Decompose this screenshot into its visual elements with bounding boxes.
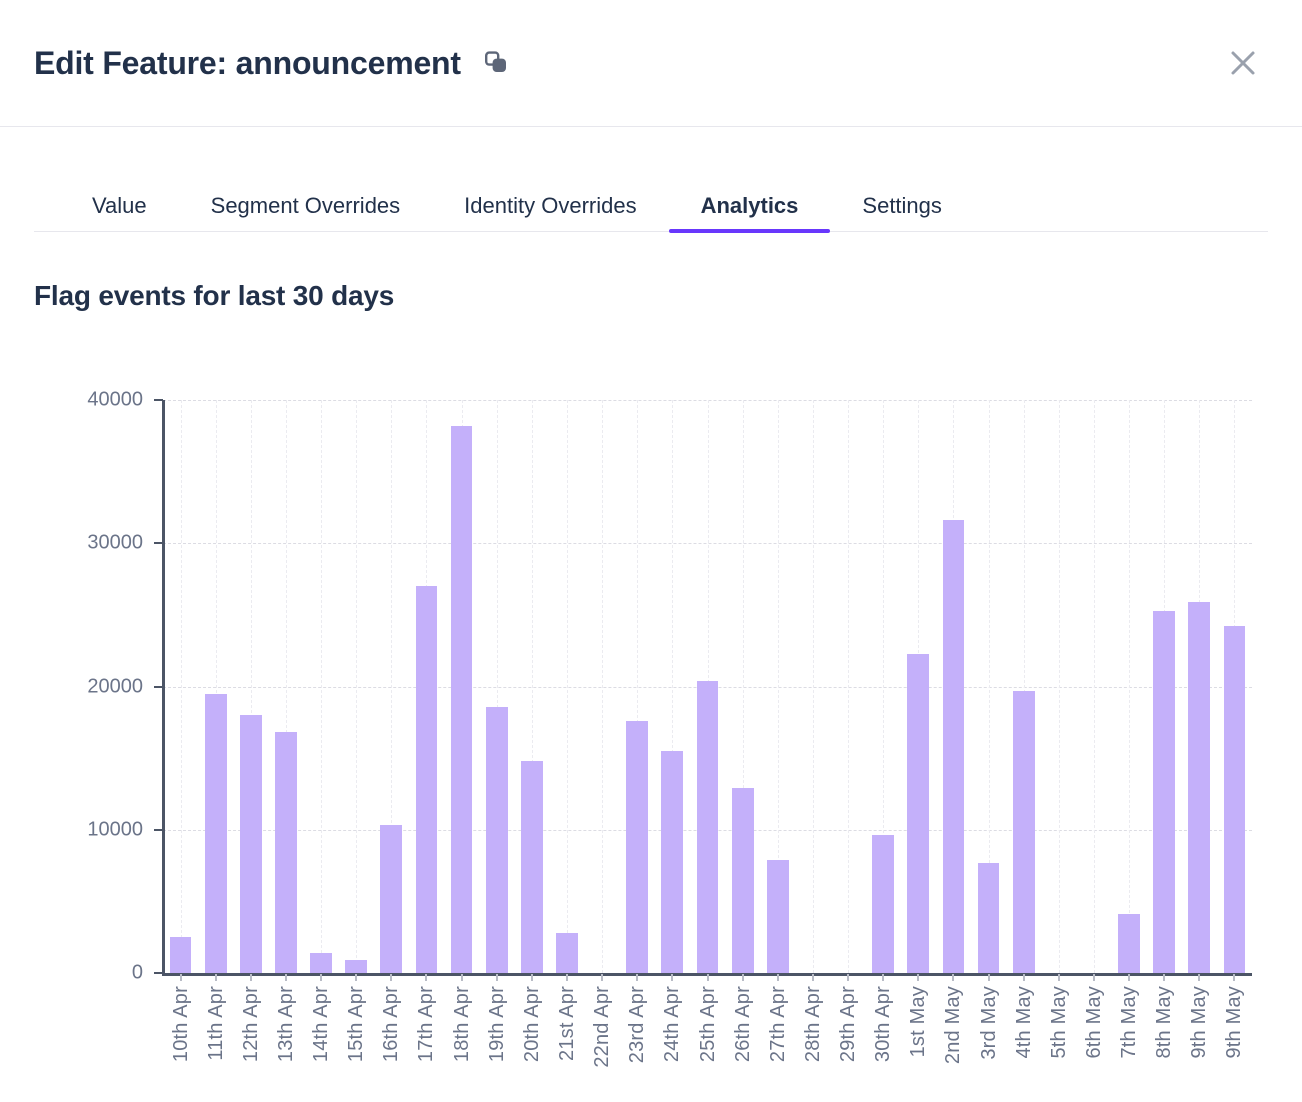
tab-identity-overrides[interactable]: Identity Overrides [432,195,668,231]
x-tick-label: 9th May [1223,986,1246,1059]
tab-segment-overrides[interactable]: Segment Overrides [179,195,433,231]
x-tick-mark [812,974,814,981]
x-tick-label: 23rd Apr [626,986,649,1063]
x-tick-label: 11th Apr [205,986,228,1061]
bar[interactable] [170,937,192,973]
bar[interactable] [205,694,227,973]
x-tick-mark [847,974,849,981]
x-tick-mark [742,974,744,981]
bar[interactable] [380,825,402,973]
x-tick-label: 3rd May [978,986,1001,1060]
flag-events-bar-chart: 010000200003000040000 10th Apr11th Apr12… [0,360,1302,1102]
y-tick-label: 40000 [0,389,143,412]
x-tick-label: 18th Apr [451,986,474,1062]
y-tick-label: 10000 [0,818,143,841]
x-tick-mark [355,974,357,981]
bar[interactable] [521,761,543,973]
x-tick-label: 26th Apr [732,986,755,1062]
x-tick-label: 27th Apr [767,986,790,1062]
x-tick-label: 12th Apr [240,986,263,1062]
x-tick-label: 16th Apr [380,986,403,1062]
bar[interactable] [451,426,473,973]
bar[interactable] [240,715,262,973]
modal-header: Edit Feature: announcement [0,0,1302,127]
x-tick-label: 6th May [1083,986,1106,1059]
x-tick-mark [1093,974,1095,981]
bar-series [163,400,1252,973]
plot-area: 10th Apr11th Apr12th Apr13th Apr14th Apr… [163,400,1252,973]
x-tick-mark [1058,974,1060,981]
x-tick-label: 7th May [1118,986,1141,1059]
x-tick-mark [952,974,954,981]
bar[interactable] [978,863,1000,973]
bar[interactable] [943,520,965,973]
x-tick-mark [1023,974,1025,981]
x-tick-label: 30th Apr [872,986,895,1062]
x-tick-mark [1198,974,1200,981]
x-tick-mark [1163,974,1165,981]
bar[interactable] [732,788,754,973]
bar[interactable] [661,751,683,973]
bar[interactable] [1153,611,1175,973]
tab-bar: Value Segment Overrides Identity Overrid… [34,127,1268,232]
x-tick-mark [566,974,568,981]
x-tick-mark [671,974,673,981]
bar[interactable] [767,860,789,973]
x-tick-label: 2nd May [942,986,965,1064]
x-tick-label: 20th Apr [521,986,544,1062]
x-tick-label: 5th May [1048,986,1071,1059]
bar[interactable] [486,707,508,973]
x-tick-label: 21st Apr [556,986,579,1061]
close-icon[interactable] [1228,48,1258,78]
x-tick-mark [531,974,533,981]
x-tick-label: 13th Apr [275,986,298,1062]
bar[interactable] [416,586,438,973]
x-tick-label: 15th Apr [345,986,368,1062]
x-tick-mark [707,974,709,981]
x-tick-mark [1233,974,1235,981]
y-tick-label: 0 [0,962,143,985]
bar[interactable] [697,681,719,973]
x-tick-label: 24th Apr [661,986,684,1062]
x-tick-mark [250,974,252,981]
page-title: Edit Feature: announcement [34,45,461,82]
bar[interactable] [310,953,332,973]
bar[interactable] [1188,602,1210,973]
chart-title: Flag events for last 30 days [34,280,1302,312]
x-tick-mark [882,974,884,981]
bar[interactable] [1118,914,1140,973]
x-tick-mark [601,974,603,981]
x-tick-label: 25th Apr [697,986,720,1062]
x-tick-mark [425,974,427,981]
bar[interactable] [907,654,929,973]
tab-analytics[interactable]: Analytics [669,195,831,231]
x-tick-label: 10th Apr [170,986,193,1062]
x-tick-label: 29th Apr [837,986,860,1062]
x-tick-mark [285,974,287,981]
bar[interactable] [626,721,648,973]
bar[interactable] [872,835,894,973]
copy-icon[interactable] [483,50,509,76]
x-tick-mark [917,974,919,981]
x-tick-label: 8th May [1153,986,1176,1059]
bar[interactable] [1224,626,1246,973]
x-tick-mark [777,974,779,981]
x-tick-mark [988,974,990,981]
x-tick-mark [636,974,638,981]
x-tick-mark [320,974,322,981]
x-tick-label: 19th Apr [486,986,509,1062]
x-tick-label: 14th Apr [310,986,333,1062]
x-tick-label: 22nd Apr [591,986,614,1068]
x-tick-label: 28th Apr [802,986,825,1062]
y-tick-label: 30000 [0,532,143,555]
x-tick-label: 17th Apr [415,986,438,1062]
x-tick-mark [215,974,217,981]
tab-value[interactable]: Value [60,195,179,231]
y-tick-label: 20000 [0,675,143,698]
x-tick-label: 1st May [907,986,930,1057]
x-tick-mark [390,974,392,981]
x-tick-mark [496,974,498,981]
bar[interactable] [1013,691,1035,973]
bar[interactable] [275,732,297,973]
x-tick-mark [461,974,463,981]
x-tick-mark [180,974,182,981]
edit-feature-modal: Edit Feature: announcement Value Segment… [0,0,1302,1102]
x-tick-mark [1128,974,1130,981]
x-tick-label: 4th May [1013,986,1036,1059]
tab-settings[interactable]: Settings [830,195,974,231]
x-tick-label: 9th May [1188,986,1211,1059]
bar[interactable] [556,933,578,973]
bar[interactable] [345,960,367,973]
